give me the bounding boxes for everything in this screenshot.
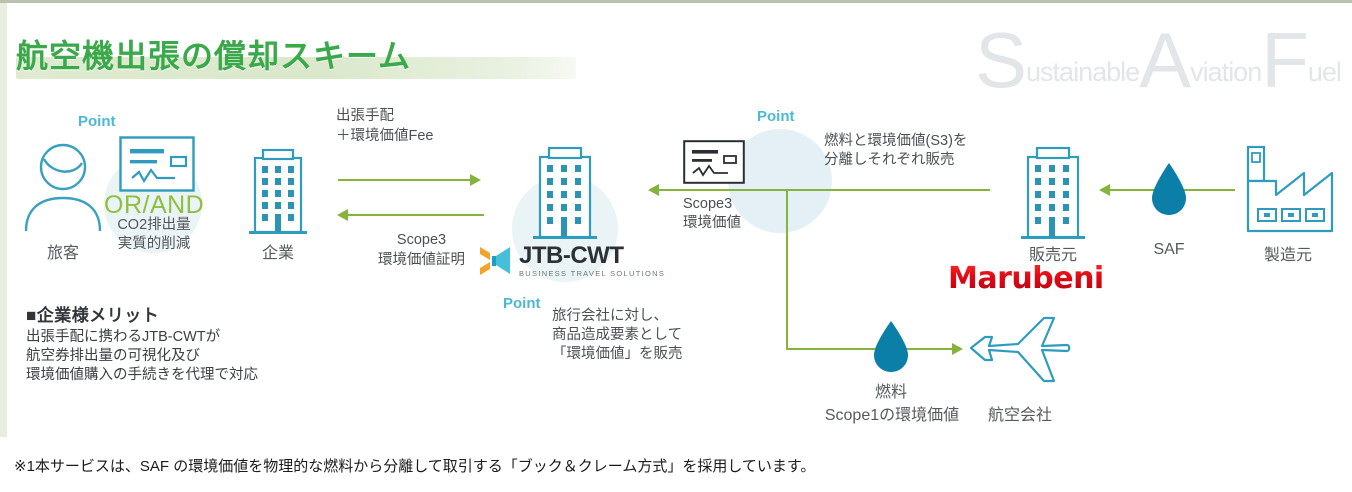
scope3-label-line-2: 環境価値 <box>683 214 741 233</box>
watermark-a: A <box>1139 16 1190 104</box>
passenger-caption: 旅客 <box>20 239 106 263</box>
flow-bottom-label-1: Scope3 <box>378 231 465 251</box>
seller-flow-note: 燃料と環境価値(S3)を 分離しそれぞれ販売 <box>824 132 967 170</box>
point-label-jtb: Point <box>503 295 541 312</box>
flow-top-label-2: ＋環境価値Fee <box>336 127 434 147</box>
company-caption: 企業 <box>247 239 309 263</box>
co2-line-2: 実質的削減 <box>100 235 208 254</box>
merit-line-1: 出張手配に携わるJTB-CWTが <box>26 329 220 345</box>
certificate-icon-scope3 <box>683 140 745 184</box>
fuel-droplet-icon <box>870 319 912 375</box>
seller-building-icon <box>1018 143 1088 243</box>
jtb-note-line-3: 「環境価値」を販売 <box>552 345 683 364</box>
flow-top-label-1: 出張手配 <box>336 107 434 127</box>
flow-bottom-label-2: 環境価値証明 <box>378 251 465 271</box>
merit-line-3: 環境価値購入の手続きを代理で対応 <box>26 367 258 383</box>
seller-note-line-1: 燃料と環境価値(S3)を <box>824 132 967 151</box>
jtb-note-line-1: 旅行会社に対し、 <box>552 307 683 326</box>
jtb-building-icon <box>530 143 600 243</box>
footnote: ※1本サービスは、SAF の環境価値を物理的な燃料から分離して取引する「ブック＆… <box>14 455 815 476</box>
fuel-caption: 燃料 <box>860 378 922 402</box>
page-title: 航空機出張の償却スキーム <box>16 31 411 77</box>
slide-canvas: SustainableAviationFuel 航空機出張の償却スキーム Poi… <box>0 0 1352 437</box>
scope3-label-line-1: Scope3 <box>683 195 741 214</box>
watermark-f: F <box>1261 16 1308 104</box>
merit-heading: ■企業様メリット <box>26 301 258 326</box>
watermark-s: S <box>975 16 1026 104</box>
passenger-icon <box>20 141 106 233</box>
airline-caption: 航空会社 <box>966 401 1074 425</box>
merit-line-2: 航空券排出量の可視化及び <box>26 348 200 364</box>
maker-caption: 製造元 <box>1248 241 1328 265</box>
point-label-passenger: Point <box>78 113 116 130</box>
jtb-logo-name: JTB-CWT <box>519 244 665 268</box>
marubeni-brand: Marubeni <box>948 261 1104 296</box>
jtb-logo-mark <box>478 243 512 279</box>
jtb-cwt-logo: JTB-CWT BUSINESS TRAVEL SOLUTIONS <box>478 243 665 279</box>
jtb-note-line-2: 商品造成要素として <box>552 326 683 345</box>
watermark-sustainable: ustainable <box>1026 57 1139 87</box>
co2-line-1: CO2排出量 <box>100 216 208 235</box>
saf-droplet-icon <box>1148 161 1190 219</box>
seller-note-line-2: 分離しそれぞれ販売 <box>824 151 967 170</box>
title-text: 航空機出張の償却スキーム <box>16 31 411 77</box>
certificate-icon <box>119 136 195 192</box>
point-label-seller: Point <box>757 108 795 125</box>
watermark-aviation: viation <box>1190 57 1261 87</box>
company-merit-block: ■企業様メリット 出張手配に携わるJTB-CWTが 航空券排出量の可視化及び 環… <box>26 301 258 385</box>
jtb-logo-tagline: BUSINESS TRAVEL SOLUTIONS <box>519 269 665 278</box>
scope1-caption: Scope1の環境価値 <box>820 401 964 425</box>
airplane-icon <box>968 315 1072 387</box>
saf-caption: SAF <box>1139 241 1199 259</box>
company-building-icon <box>247 146 309 238</box>
saf-watermark: SustainableAviationFuel <box>975 21 1341 99</box>
jtb-note: 旅行会社に対し、 商品造成要素として 「環境価値」を販売 <box>552 307 683 364</box>
factory-icon <box>1240 143 1336 239</box>
watermark-fuel: uel <box>1308 57 1341 87</box>
